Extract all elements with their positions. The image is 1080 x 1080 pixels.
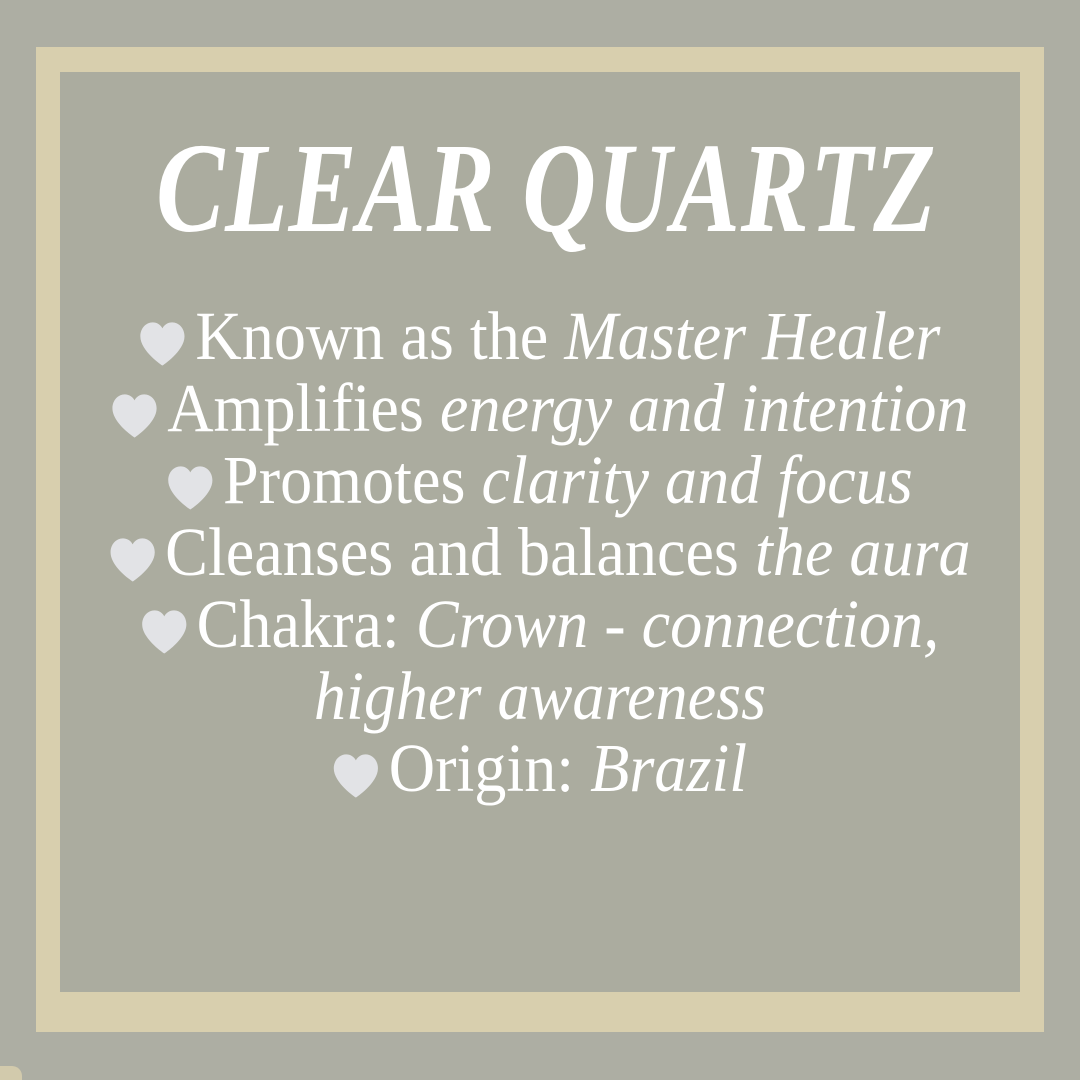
list-item-emphasis-text: energy and intention (440, 370, 969, 446)
card-inner-panel: CLEAR QUARTZ Known as the Master Healer … (60, 72, 1020, 992)
list-item-plain-text: Amplifies (167, 370, 440, 446)
white-heart-icon (140, 307, 187, 353)
white-heart-icon (167, 451, 214, 497)
list-item-plain-text: Promotes (223, 442, 481, 518)
white-heart-icon (111, 379, 158, 425)
crystal-info-card: CLEAR QUARTZ Known as the Master Healer … (0, 0, 1080, 1080)
white-heart-icon (109, 523, 156, 569)
list-item: Cleanses and balances the aura (101, 516, 979, 588)
list-item-plain-text: Chakra: (197, 586, 416, 662)
white-heart-icon (141, 595, 188, 641)
list-item-emphasis-text: Master Healer (564, 298, 940, 374)
list-item: Promotes clarity and focus (101, 444, 979, 516)
white-heart-icon (333, 739, 380, 785)
list-item-plain-text: Origin: (389, 730, 590, 806)
list-item: Amplifies energy and intention (101, 372, 979, 444)
list-item-emphasis-text: Brazil (590, 730, 747, 806)
page-title: CLEAR QUARTZ (156, 124, 924, 252)
card-cream-frame: CLEAR QUARTZ Known as the Master Healer … (36, 47, 1044, 1032)
list-item-plain-text: Known as the (195, 298, 564, 374)
corner-artifact (0, 1066, 22, 1080)
list-item: Chakra: Crown - connection, higher aware… (101, 588, 979, 732)
list-item: Origin: Brazil (101, 732, 979, 804)
list-item-emphasis-text: the aura (755, 514, 971, 590)
list-item: Known as the Master Healer (101, 300, 979, 372)
list-item-plain-text: Cleanses and balances (165, 514, 755, 590)
list-item-emphasis-text: clarity and focus (481, 442, 912, 518)
crystal-properties-list: Known as the Master Healer Amplifies ene… (101, 300, 979, 804)
